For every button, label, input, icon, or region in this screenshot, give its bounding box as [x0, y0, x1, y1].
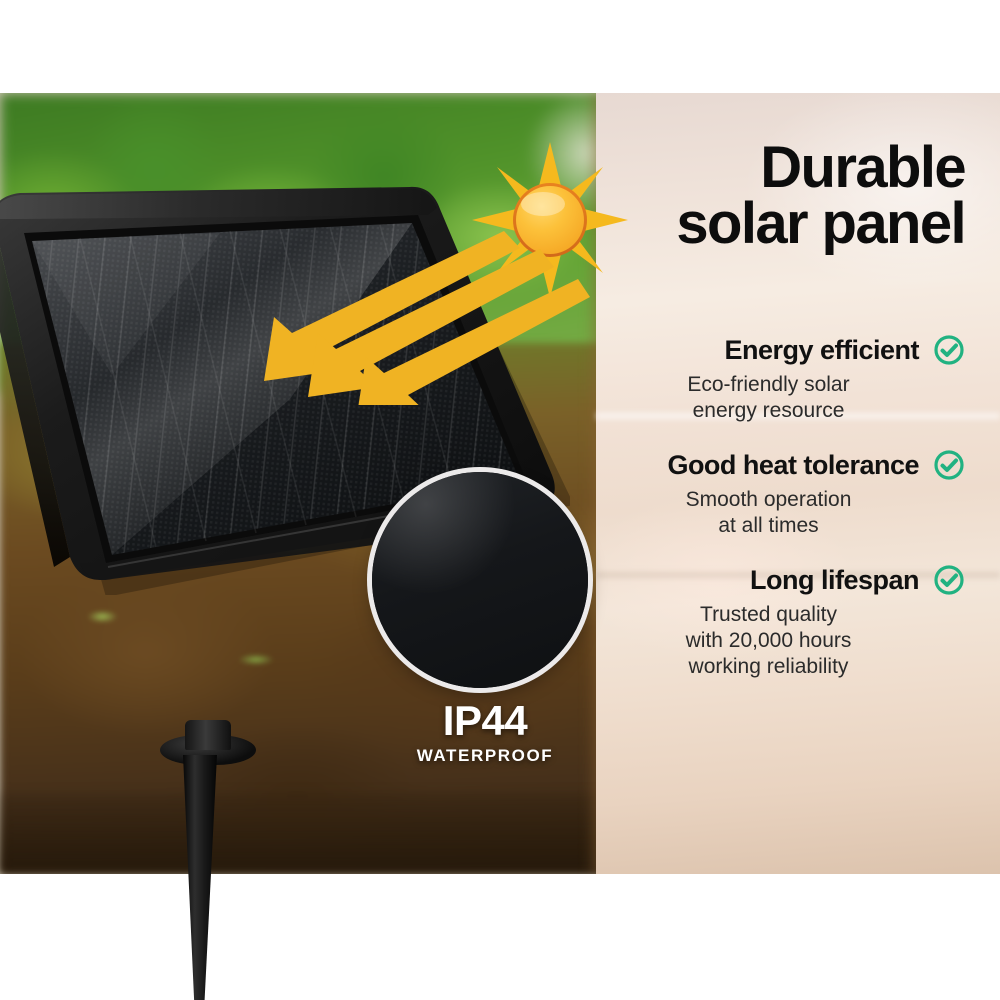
feature-desc-line: working reliability — [620, 654, 917, 680]
feature-desc-line: with 20,000 hours — [620, 628, 917, 654]
stake-neck — [185, 720, 231, 750]
feature-title: Long lifespan — [750, 565, 919, 596]
feature-item-long-lifespan: Long lifespan Trusted quality with 20,00… — [620, 564, 965, 679]
check-circle-icon — [933, 334, 965, 366]
sunlight-arrow-1 — [264, 231, 520, 381]
ground-stake — [183, 755, 217, 1000]
magnifier-gloss — [372, 472, 523, 602]
feature-desc-line: energy resource — [620, 398, 917, 424]
waterproof-label: WATERPROOF — [345, 746, 625, 766]
check-circle-icon — [933, 564, 965, 596]
feature-description: Eco-friendly solar energy resource — [620, 372, 965, 423]
headline-line-1: Durable — [560, 140, 965, 196]
sunlight-arrows-icon — [230, 225, 610, 405]
feature-list: Energy efficient Eco-friendly solar ener… — [620, 334, 965, 705]
check-circle-icon — [933, 449, 965, 481]
feature-item-energy-efficient: Energy efficient Eco-friendly solar ener… — [620, 334, 965, 423]
headline-line-2: solar panel — [560, 196, 965, 252]
feature-desc-line: Trusted quality — [620, 602, 917, 628]
feature-description: Trusted quality with 20,000 hours workin… — [620, 602, 965, 679]
magnified-solar-cell-detail — [372, 472, 588, 688]
feature-description: Smooth operation at all times — [620, 487, 965, 538]
sun-highlight — [521, 192, 565, 216]
ip-rating-value: IP44 — [345, 700, 625, 742]
feature-desc-line: at all times — [620, 513, 917, 539]
soil-shadow — [0, 793, 660, 874]
feature-desc-line: Eco-friendly solar — [620, 372, 917, 398]
ip44-waterproof-badge: IP44 WATERPROOF — [345, 700, 625, 766]
feature-desc-line: Smooth operation — [620, 487, 917, 513]
feature-title: Good heat tolerance — [667, 450, 919, 481]
page-title: Durable solar panel — [560, 140, 965, 253]
product-feature-image: IP44 WATERPROOF Durable solar panel Ener… — [0, 0, 1000, 1000]
feature-title: Energy efficient — [724, 335, 919, 366]
feature-item-good-heat-tolerance: Good heat tolerance Smooth operation at … — [620, 449, 965, 538]
